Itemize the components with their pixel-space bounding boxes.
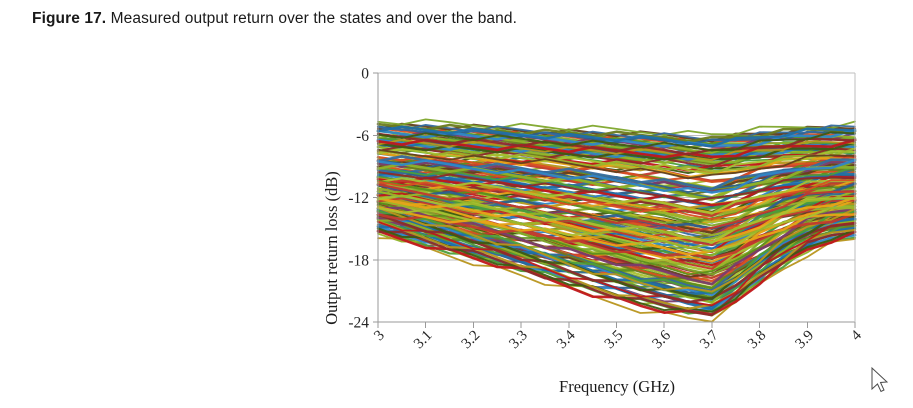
x-tick-label: 3.4 xyxy=(554,327,579,352)
x-tick-label: 3.3 xyxy=(506,328,531,353)
x-tick-label: 3.5 xyxy=(602,328,627,353)
x-tick-label: 3.9 xyxy=(793,328,818,353)
return-loss-chart: 0-6-12-18-24 33.13.23.33.43.53.63.73.83.… xyxy=(0,48,913,408)
x-tick-label: 3.2 xyxy=(459,328,484,353)
figure-caption: Figure 17. Measured output return over t… xyxy=(32,10,517,28)
y-tick-label: -18 xyxy=(348,252,369,269)
figure-caption-text: Measured output return over the states a… xyxy=(106,10,517,27)
x-tick-label: 3.8 xyxy=(745,328,770,353)
x-tick-label: 3.1 xyxy=(411,328,436,353)
y-tick-label: -12 xyxy=(348,190,369,207)
figure-container: Figure 17. Measured output return over t… xyxy=(0,0,913,408)
mouse-cursor-icon xyxy=(872,368,887,392)
x-tick-label: 3.6 xyxy=(649,327,674,352)
y-tick-label: -24 xyxy=(348,315,369,332)
chart-plot: 0-6-12-18-24 33.13.23.33.43.53.63.73.83.… xyxy=(0,48,913,408)
x-tick-labels: 33.13.23.33.43.53.63.73.83.94 xyxy=(371,322,865,352)
x-axis-title: Frequency (GHz) xyxy=(559,377,675,396)
y-tick-label: -6 xyxy=(356,128,369,145)
series-lines xyxy=(378,119,855,321)
figure-caption-number: Figure 17. xyxy=(32,10,106,27)
x-tick-label: 3 xyxy=(371,328,388,345)
y-tick-label: 0 xyxy=(361,66,369,83)
x-tick-label: 3.7 xyxy=(697,327,722,352)
y-axis-title: Output return loss (dB) xyxy=(322,171,341,325)
x-tick-label: 4 xyxy=(848,327,865,344)
y-tick-labels: 0-6-12-18-24 xyxy=(348,66,378,332)
